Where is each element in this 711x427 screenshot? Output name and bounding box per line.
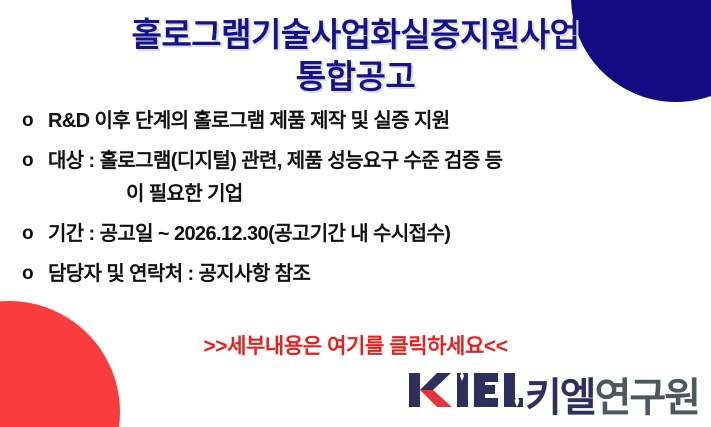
- logo-hangul-kiel: 키엘: [525, 378, 595, 418]
- kiel-wordmark-icon: [407, 369, 525, 411]
- details-link[interactable]: >>세부내용은 여기를 클릭하세요<<: [0, 330, 711, 360]
- list-item-text: 담당자 및 연락처 : 공지사항 참조: [48, 260, 692, 289]
- bullet-circle-icon: o: [22, 220, 48, 248]
- bullet-circle-icon: o: [22, 107, 48, 135]
- list-item-text: 기간 : 공고일 ~ 2026.12.30(공고기간 내 수시접수): [48, 220, 692, 249]
- list-item: o 담당자 및 연락처 : 공지사항 참조: [22, 260, 692, 289]
- list-item: o 대상 : 홀로그램(디지털) 관련, 제품 성능요구 수준 검증 등 이 필…: [22, 147, 692, 209]
- list-item-text: R&D 이후 단계의 홀로그램 제품 제작 및 실증 지원: [48, 107, 692, 136]
- bottom-left-red-corner-decoration: [0, 301, 120, 427]
- bullet-circle-icon: o: [22, 260, 48, 288]
- list-item: o 기간 : 공고일 ~ 2026.12.30(공고기간 내 수시접수): [22, 220, 692, 249]
- list-item-text: 대상 : 홀로그램(디지털) 관련, 제품 성능요구 수준 검증 등 이 필요한…: [48, 147, 692, 209]
- title-line-2: 통합공고: [0, 56, 711, 98]
- list-item: o R&D 이후 단계의 홀로그램 제품 제작 및 실증 지원: [22, 107, 692, 136]
- banner-title: 홀로그램기술사업화실증지원사업 통합공고: [0, 14, 711, 98]
- title-line-1: 홀로그램기술사업화실증지원사업: [0, 14, 711, 56]
- announcement-banner: 홀로그램기술사업화실증지원사업 통합공고 o R&D 이후 단계의 홀로그램 제…: [0, 0, 711, 427]
- kiel-logo: 키엘 연구원: [407, 369, 699, 419]
- list-item-text-primary: 대상 : 홀로그램(디지털) 관련, 제품 성능요구 수준 검증 등: [48, 150, 502, 172]
- announcement-details-list: o R&D 이후 단계의 홀로그램 제품 제작 및 실증 지원 o 대상 : 홀…: [22, 107, 692, 300]
- logo-hangul-institute: 연구원: [595, 378, 699, 418]
- bullet-circle-icon: o: [22, 147, 48, 175]
- list-item-text-continuation: 이 필요한 기업: [48, 180, 692, 209]
